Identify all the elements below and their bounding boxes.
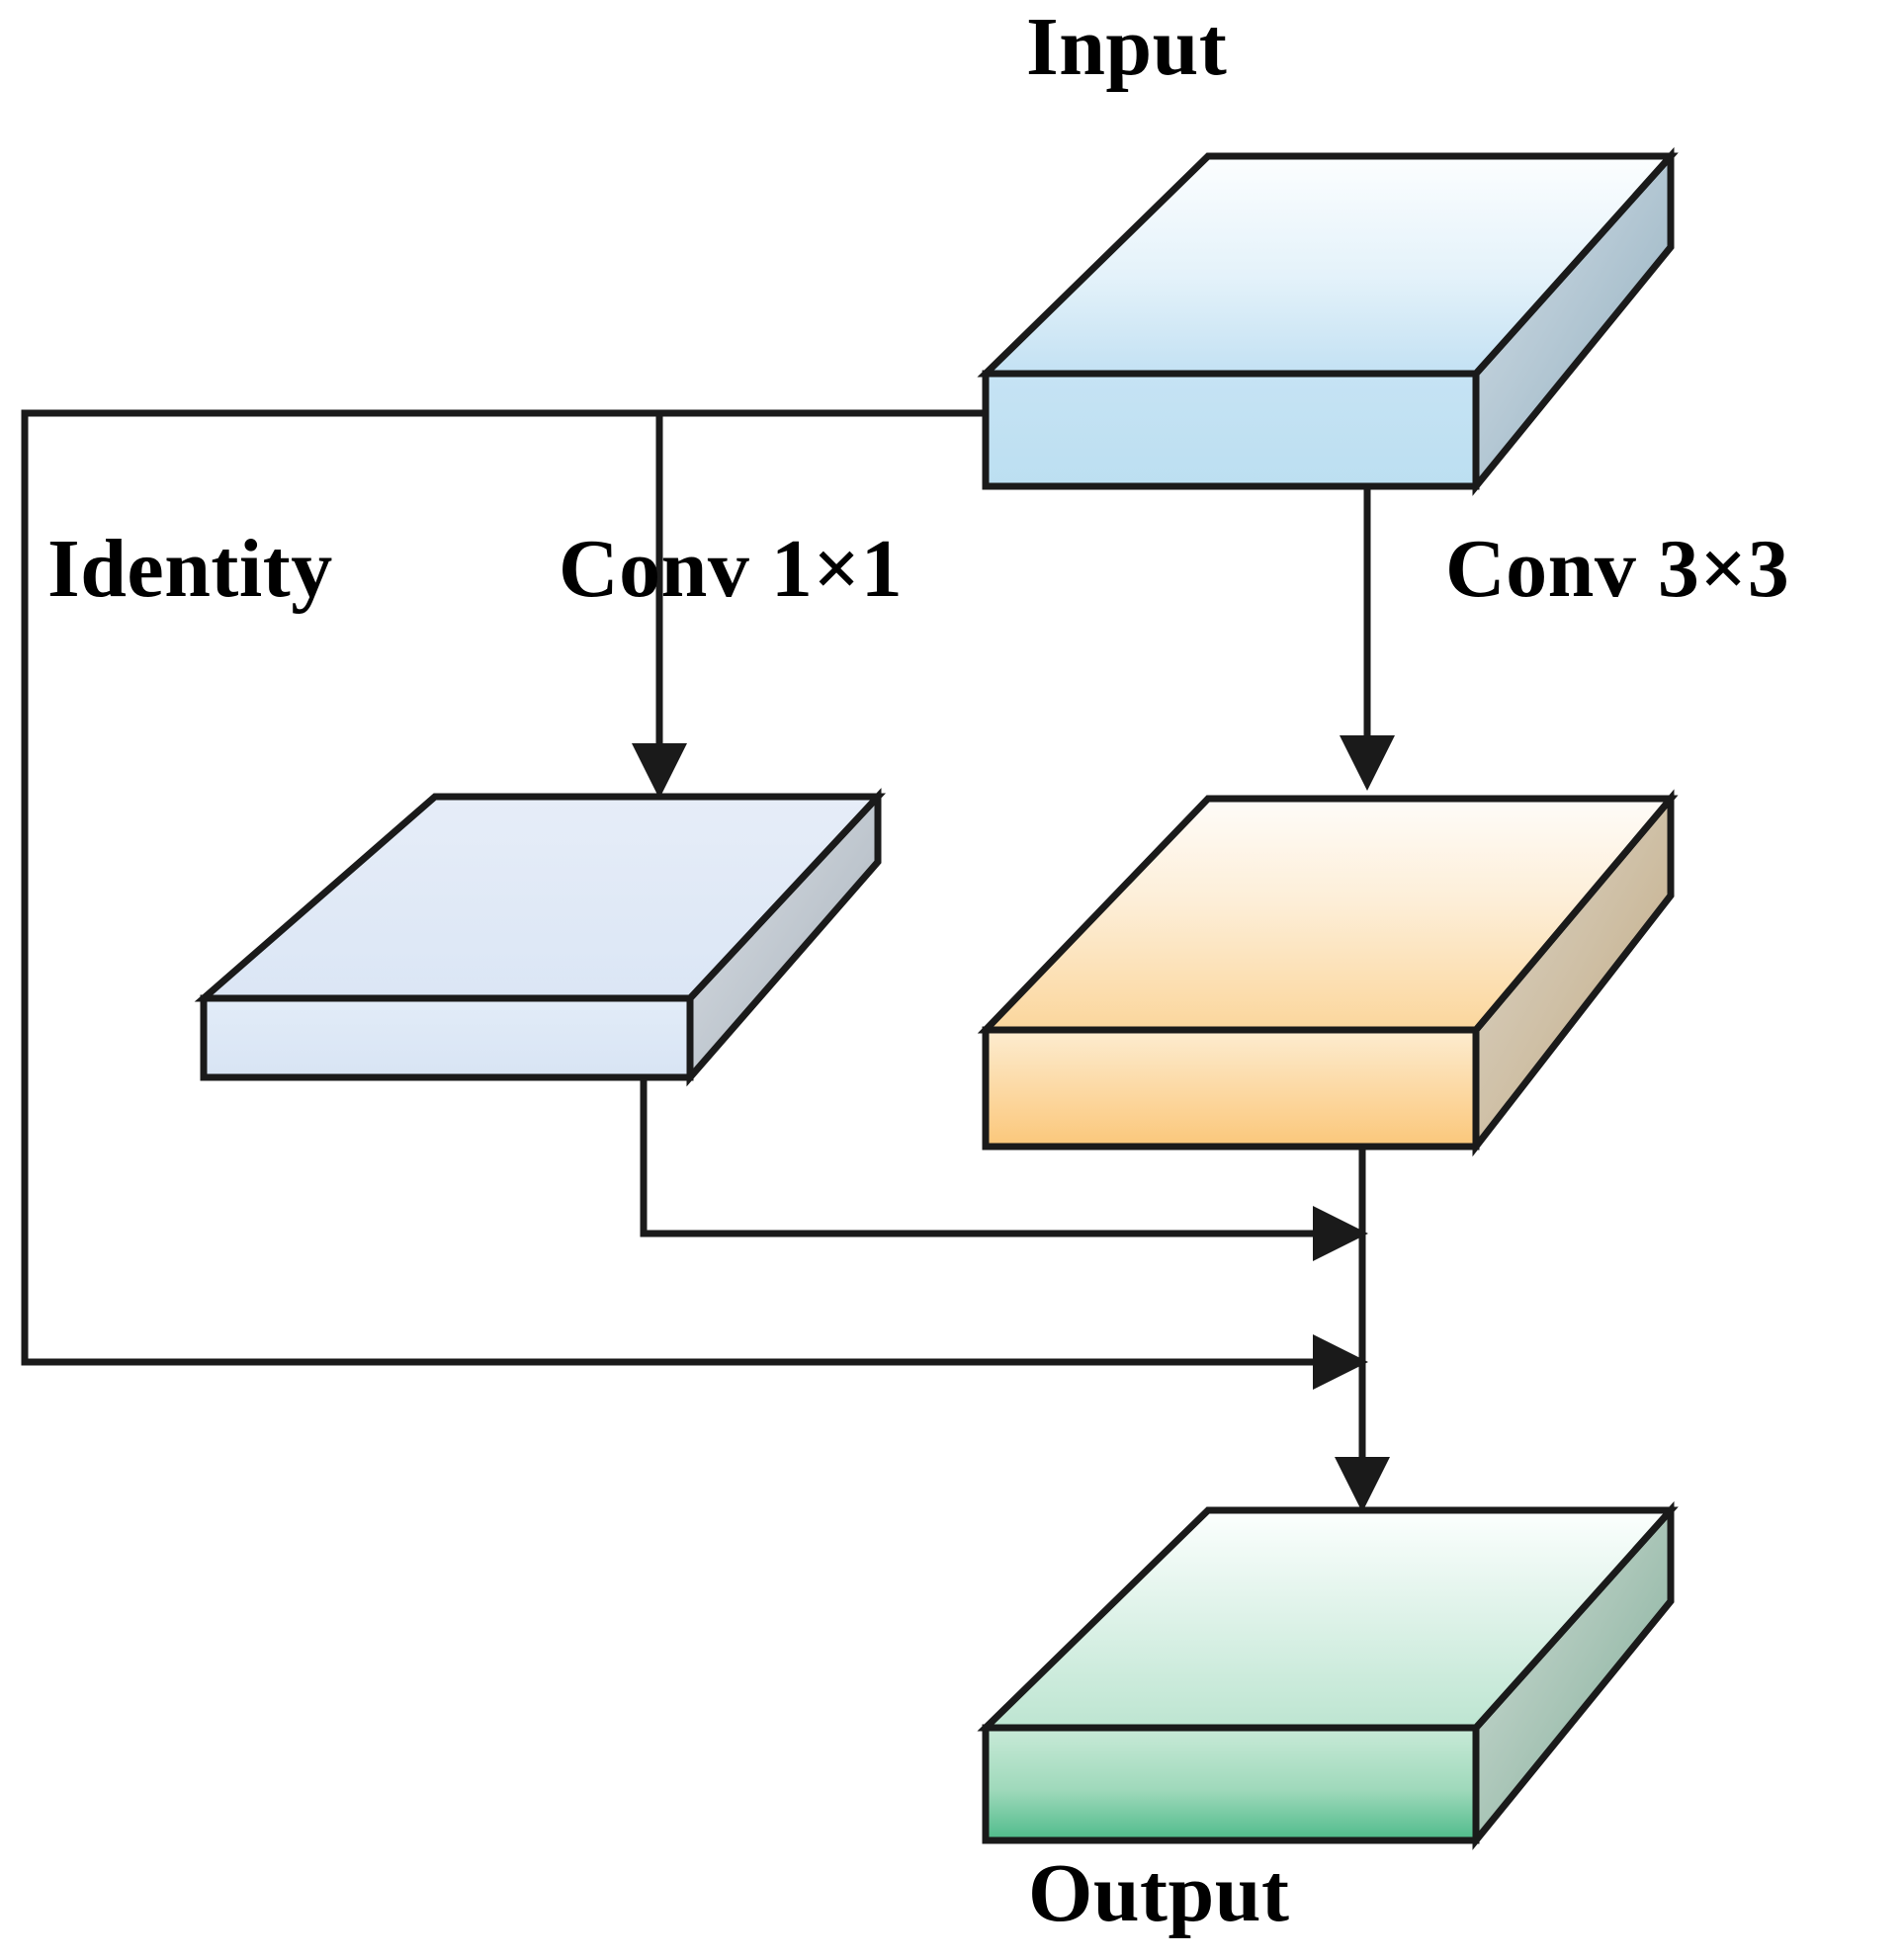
block-conv3x3-front-face [986,1030,1476,1147]
block-conv1x1 [204,797,878,1077]
block-output-front-face [986,1728,1476,1840]
arrowhead-into-output [1335,1457,1390,1512]
block-conv1x1-front-face [204,998,690,1077]
label-conv-3x3: Conv 3×3 [1445,528,1789,611]
block-output [986,1510,1671,1840]
arrowhead-into-conv3x3 [1340,735,1395,791]
label-conv-1x1: Conv 1×1 [559,528,903,611]
diagram-canvas: Input Identity Conv 1×1 Conv 3×3 Output [0,0,1904,1960]
block-conv3x3 [986,799,1671,1147]
label-output: Output [1028,1852,1289,1935]
block-input [986,156,1671,486]
arrowhead-into-conv1x1 [632,743,687,799]
label-identity: Identity [47,528,333,611]
block-input-front-face [986,374,1476,486]
label-input: Input [1026,6,1227,89]
block-diagram-svg [0,0,1904,1960]
